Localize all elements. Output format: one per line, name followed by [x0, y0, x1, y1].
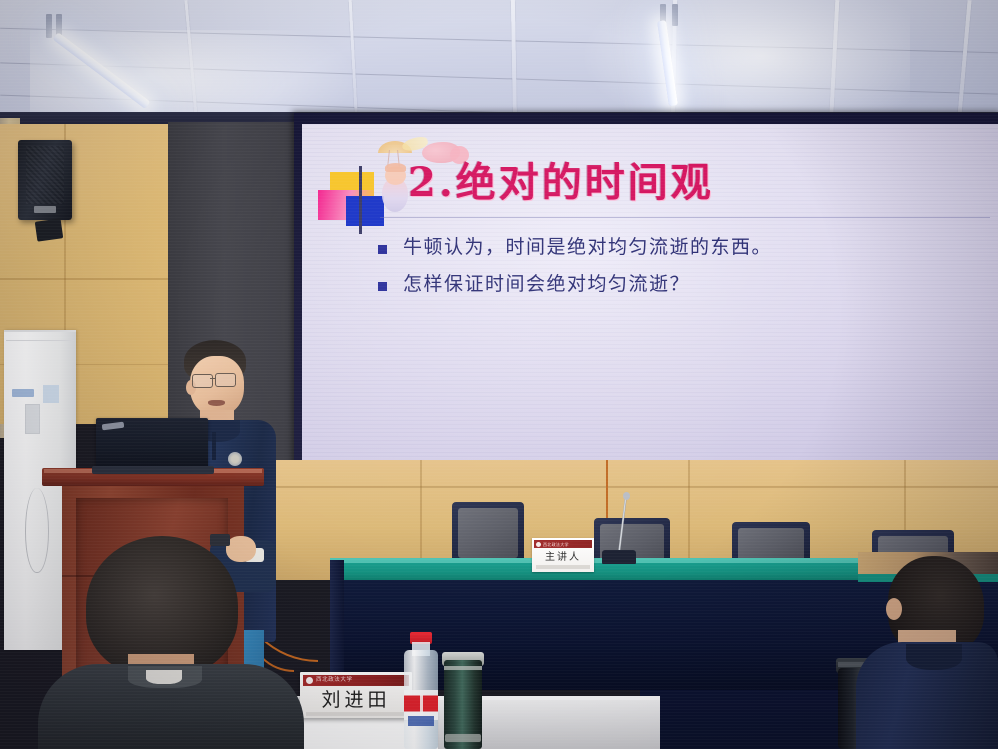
speaker-badge [34, 206, 56, 213]
front-name-card-university: 西北政法大学 [316, 676, 406, 685]
air-conditioner-brand-label [12, 389, 34, 397]
presenter-hand [226, 536, 256, 562]
air-conditioner-display [25, 404, 40, 434]
laptop-base [92, 466, 214, 474]
chair-backrest-pad [458, 508, 518, 558]
thermos-ring [444, 666, 482, 670]
audience-member-collar [906, 644, 962, 670]
air-conditioner-cord [25, 488, 49, 573]
ceiling-light-glow [580, 0, 910, 128]
projector-screen [302, 124, 998, 478]
presenter-placket [212, 432, 216, 460]
podium-microphone-base [210, 534, 230, 546]
ceiling [0, 0, 998, 128]
table-name-card-name: 主讲人 [534, 551, 592, 564]
eyeglasses-lens-left-icon [192, 374, 213, 388]
table-microphone-capsule-icon [623, 492, 630, 500]
water-bottle-label-split [420, 695, 423, 717]
wall-seam [0, 278, 176, 280]
air-conditioner-seam [6, 340, 74, 341]
audience-member-shirt [146, 670, 182, 684]
conference-chair[interactable] [452, 502, 524, 564]
eyeglasses-bridge-icon [210, 378, 216, 379]
audience-member-ear [886, 598, 902, 620]
presenter-lapel-badge [228, 452, 242, 466]
light-bracket [46, 14, 52, 38]
slide-canvas [302, 124, 998, 478]
table-microphone-base [602, 550, 636, 564]
lecture-hall-photo: 2.绝对的时间观 牛顿认为，时间是绝对均匀流逝的东西。 怎样保证时间会绝对均匀流… [0, 0, 998, 749]
ceiling-rail [956, 0, 971, 128]
front-name-card-footer [306, 712, 406, 716]
university-logo-icon [536, 542, 541, 547]
presenter-mouth [208, 400, 225, 406]
wall-speaker-icon [18, 140, 72, 220]
light-bracket [672, 4, 678, 26]
head-table-left-face [330, 560, 344, 690]
speaker-grille [26, 146, 64, 204]
university-logo-icon [306, 677, 313, 684]
eyeglasses-lens-right-icon [215, 373, 236, 387]
table-name-card-footer [536, 565, 590, 569]
air-conditioner-control-panel[interactable] [43, 385, 59, 403]
water-bottle-label-accent [408, 716, 434, 726]
speaker-mount-bracket [35, 218, 64, 241]
front-name-card-name: 刘进田 [303, 688, 409, 712]
table-name-card-university: 西北政法大学 [543, 541, 589, 548]
ceiling-rail [511, 0, 517, 128]
thermos-base [445, 734, 481, 742]
